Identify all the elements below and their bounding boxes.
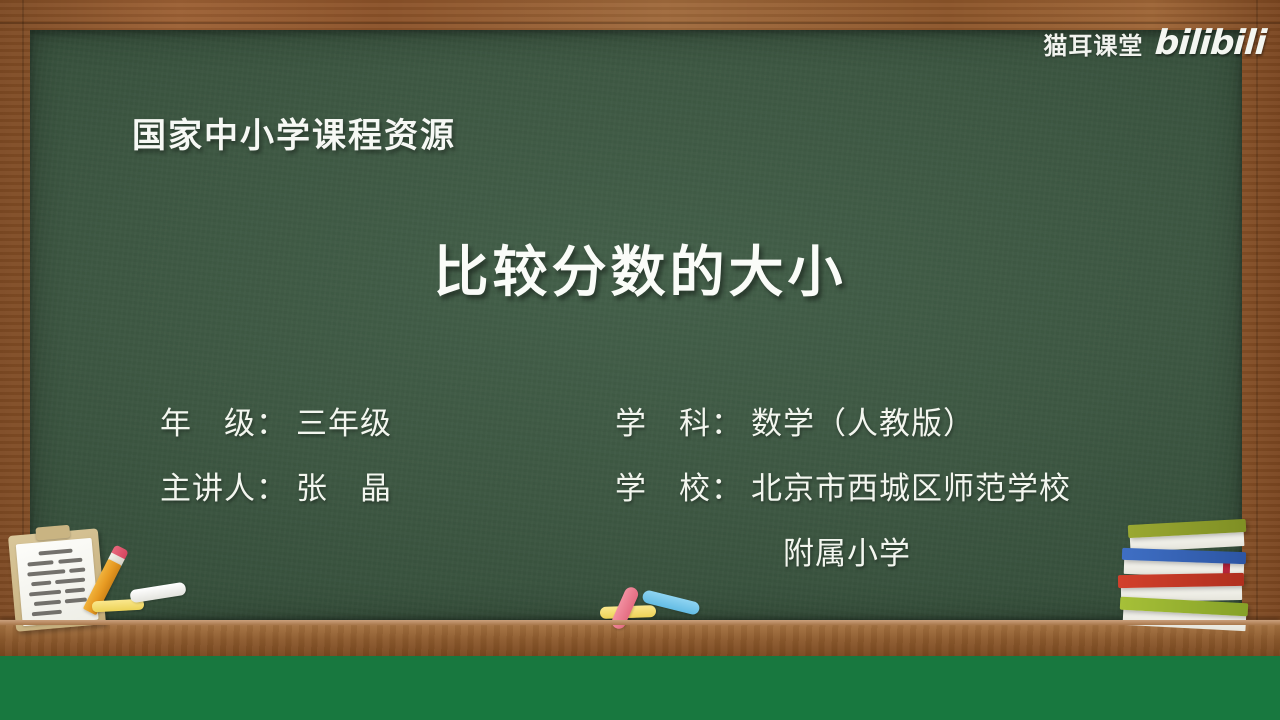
info-column-right: 学 科： 数学（人教版） 学 校： 北京市西城区师范学校 附属小学 — [615, 398, 1175, 573]
clipboard-paper — [16, 538, 99, 626]
subject-label: 学 科： — [615, 398, 751, 443]
branding-group: 猫耳课堂 bilibili — [1043, 26, 1266, 61]
grade-value: 三年级 — [296, 398, 392, 443]
info-row-grade: 年 级： 三年级 — [160, 398, 615, 443]
bottom-green-bar — [0, 656, 1280, 720]
clipboard-clip — [35, 525, 70, 541]
school-value-continuation: 附属小学 — [783, 528, 1175, 573]
lesson-title: 比较分数的大小 — [0, 227, 1280, 307]
subject-value: 数学（人教版） — [751, 398, 975, 443]
bilibili-logo-icon: bilibili — [1154, 27, 1267, 59]
book-stack-group — [1118, 516, 1258, 634]
book-cover-3 — [1118, 573, 1244, 588]
info-row-lecturer: 主讲人： 张 晶 — [160, 463, 615, 508]
chalk-tray-lip — [0, 620, 1280, 625]
info-row-school: 学 校： 北京市西城区师范学校 — [615, 463, 1175, 508]
info-row-subject: 学 科： 数学（人教版） — [615, 398, 1175, 443]
school-label: 学 校： — [615, 463, 751, 508]
clipboard-decoration-group — [4, 518, 204, 634]
organization-title: 国家中小学课程资源 — [132, 108, 456, 157]
lecturer-value: 张 晶 — [296, 463, 392, 508]
slide-canvas: 猫耳课堂 bilibili 国家中小学课程资源 比较分数的大小 年 级： 三年级… — [0, 0, 1280, 720]
info-column-left: 年 级： 三年级 主讲人： 张 晶 — [160, 398, 615, 573]
frame-seam-top — [0, 22, 1280, 24]
chalk-white-left — [129, 582, 186, 604]
grade-label: 年 级： — [160, 398, 296, 443]
school-value: 北京市西城区师范学校 — [751, 463, 1071, 508]
lecturer-label: 主讲人： — [160, 463, 296, 508]
channel-name-label: 猫耳课堂 — [1043, 26, 1143, 61]
clipboard-icon — [8, 528, 106, 631]
